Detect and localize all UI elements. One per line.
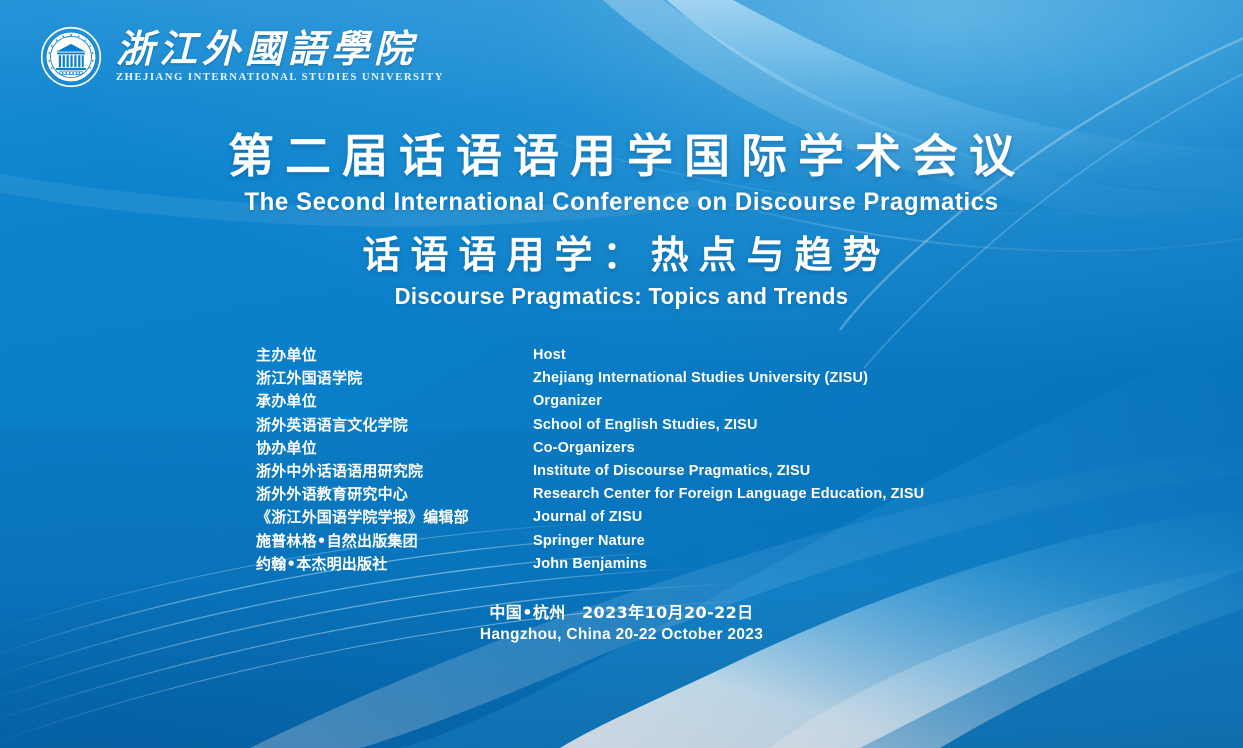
- org-line-en: Journal of ZISU: [533, 506, 924, 529]
- organizations-block: 主办单位 浙江外国语学院 承办单位 浙外英语语言文化学院 协办单位 浙外中外话语…: [256, 344, 924, 576]
- org-line-cn: 施普林格•自然出版集团: [256, 530, 533, 553]
- university-name-cn: 浙江外國語學院: [116, 30, 438, 68]
- org-line-en: Research Center for Foreign Language Edu…: [533, 483, 924, 506]
- org-line-en: Institute of Discourse Pragmatics, ZISU: [533, 460, 924, 483]
- conference-title-en: The Second International Conference on D…: [25, 189, 1218, 217]
- venue-date-en: Hangzhou, China 20-22 October 2023: [0, 624, 1243, 646]
- org-line-cn: 《浙江外国语学院学报》编辑部: [256, 506, 533, 529]
- org-line-cn: 承办单位: [256, 390, 533, 413]
- conference-theme-cn: 话语语用学：热点与趋势: [0, 232, 1243, 278]
- conference-theme-en: Discourse Pragmatics: Topics and Trends: [25, 284, 1218, 309]
- org-line-cn: 约翰•本杰明出版社: [256, 553, 533, 576]
- org-line-cn: 浙外英语语言文化学院: [256, 414, 533, 437]
- title-block: 第二届话语语用学国际学术会议 The Second International …: [0, 128, 1243, 309]
- org-line-cn: 浙江外国语学院: [256, 367, 533, 390]
- university-name-en: ZHEJIANG INTERNATIONAL STUDIES UNIVERSIT…: [116, 73, 444, 84]
- org-line-en: Host: [533, 344, 924, 367]
- org-line-en: School of English Studies, ZISU: [533, 414, 924, 437]
- org-line-en: Organizer: [533, 390, 924, 413]
- org-line-en: Co-Organizers: [533, 437, 924, 460]
- university-logo: 浙江外國語學院 ZHEJIANG INTERNATIONAL STUDIES U…: [40, 26, 438, 88]
- org-line-cn: 浙外中外话语语用研究院: [256, 460, 533, 483]
- venue-date-block: 中国•杭州 2023年10月20-22日 Hangzhou, China 20-…: [0, 602, 1243, 646]
- org-line-en: Springer Nature: [533, 530, 924, 553]
- conference-title-cn: 第二届话语语用学国际学术会议: [0, 128, 1243, 184]
- org-line-cn: 主办单位: [256, 344, 533, 367]
- venue-date-cn: 中国•杭州 2023年10月20-22日: [0, 602, 1243, 624]
- organizations-column-en: Host Zhejiang International Studies Univ…: [533, 344, 924, 576]
- org-line-cn: 协办单位: [256, 437, 533, 460]
- organizations-column-cn: 主办单位 浙江外国语学院 承办单位 浙外英语语言文化学院 协办单位 浙外中外话语…: [256, 344, 533, 576]
- org-line-cn: 浙外外语教育研究中心: [256, 483, 533, 506]
- org-line-en: John Benjamins: [533, 553, 924, 576]
- conference-poster: 浙江外國語學院 ZHEJIANG INTERNATIONAL STUDIES U…: [0, 0, 1243, 748]
- org-line-en: Zhejiang International Studies Universit…: [533, 367, 924, 390]
- university-crest-icon: [40, 26, 102, 88]
